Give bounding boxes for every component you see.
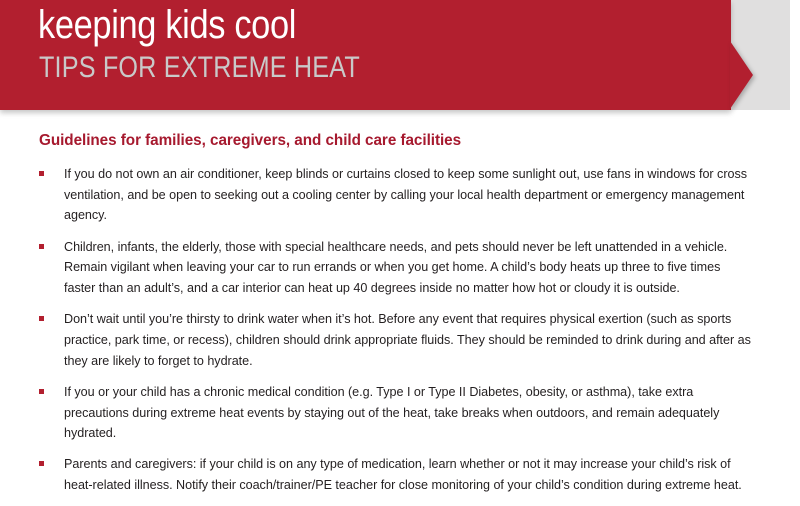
list-item-text: Don’t wait until you’re thirsty to drink… bbox=[64, 309, 752, 371]
page-subtitle: TIPS FOR EXTREME HEAT bbox=[39, 50, 360, 86]
header-text-group: keeping kids cool TIPS FOR EXTREME HEAT bbox=[38, 0, 678, 110]
square-bullet-icon bbox=[39, 171, 44, 176]
square-bullet-icon bbox=[39, 244, 44, 249]
section-heading: Guidelines for families, caregivers, and… bbox=[39, 132, 461, 150]
right-arrow-point-icon bbox=[730, 41, 753, 109]
list-item: Parents and caregivers: if your child is… bbox=[0, 454, 800, 495]
list-item: If you do not own an air conditioner, ke… bbox=[0, 164, 800, 226]
guidelines-list: If you do not own an air conditioner, ke… bbox=[0, 164, 800, 506]
square-bullet-icon bbox=[39, 389, 44, 394]
list-item: Children, infants, the elderly, those wi… bbox=[0, 237, 800, 299]
list-item-text: Children, infants, the elderly, those wi… bbox=[64, 237, 752, 299]
header-banner: keeping kids cool TIPS FOR EXTREME HEAT bbox=[0, 0, 800, 112]
list-item-text: If you or your child has a chronic medic… bbox=[64, 382, 752, 444]
page-title: keeping kids cool bbox=[38, 1, 296, 49]
list-item: Don’t wait until you’re thirsty to drink… bbox=[0, 309, 800, 371]
list-item-text: Parents and caregivers: if your child is… bbox=[64, 454, 752, 495]
list-item: If you or your child has a chronic medic… bbox=[0, 382, 800, 444]
square-bullet-icon bbox=[39, 461, 44, 466]
list-item-text: If you do not own an air conditioner, ke… bbox=[64, 164, 752, 226]
square-bullet-icon bbox=[39, 316, 44, 321]
